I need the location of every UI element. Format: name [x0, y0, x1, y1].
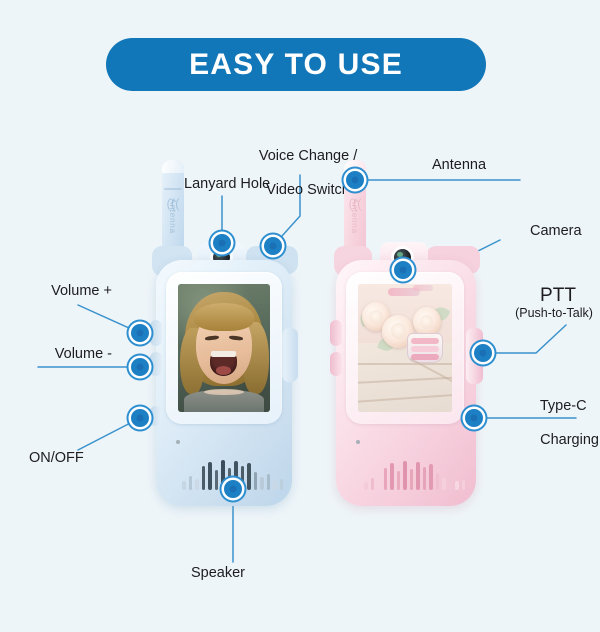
marker-volume-down[interactable] — [131, 358, 149, 376]
label-type-c-charging: Type-C Charging — [524, 381, 599, 467]
blue-walkie-talkie: ((( Antenna — [150, 160, 310, 520]
marker-camera[interactable] — [394, 261, 412, 279]
marker-speaker[interactable] — [224, 480, 242, 498]
pink-walkie-talkie: ((( Antenna — [330, 160, 490, 520]
marker-core — [270, 243, 277, 250]
microphone-hole-pink — [356, 440, 360, 444]
title-banner: EASY TO USE — [106, 38, 486, 91]
lens-glint-pink — [397, 252, 403, 257]
marker-core — [480, 350, 487, 357]
power-button-blue[interactable] — [150, 406, 161, 426]
marker-core — [471, 415, 478, 422]
label-speaker: Speaker — [191, 565, 245, 582]
speaker-grille-pink — [364, 456, 465, 490]
marker-lanyard-hole[interactable] — [213, 234, 231, 252]
label-camera: Camera — [530, 223, 582, 240]
volume-up-button-blue[interactable] — [150, 320, 162, 346]
label-type-c-line2: Charging — [540, 432, 599, 448]
marker-core — [137, 330, 144, 337]
antenna-wordmark-pink: Antenna — [350, 199, 360, 234]
label-volume-up: Volume + — [0, 283, 112, 300]
label-type-c-line1: Type-C — [540, 398, 587, 414]
antenna-ring-blue — [164, 188, 182, 190]
marker-antenna[interactable] — [346, 171, 364, 189]
volume-up-button-pink[interactable] — [330, 320, 342, 346]
volume-down-button-pink[interactable] — [330, 352, 342, 376]
screen-pink — [358, 284, 452, 412]
screen-blue — [178, 284, 270, 412]
label-ptt: PTT — [516, 285, 600, 307]
volume-down-button-blue[interactable] — [150, 352, 162, 376]
marker-voice-change[interactable] — [264, 237, 282, 255]
infographic-canvas: EASY TO USE Lanyard Hole — [0, 0, 600, 632]
marker-core — [352, 177, 359, 184]
marker-type-c[interactable] — [465, 409, 483, 427]
screen-photo-child — [178, 284, 270, 412]
marker-on-off[interactable] — [131, 409, 149, 427]
antenna-wordmark-blue: Antenna — [168, 199, 178, 234]
ptt-button-blue[interactable] — [282, 328, 298, 382]
marker-volume-up[interactable] — [131, 324, 149, 342]
marker-core — [400, 267, 407, 274]
screen-photo-roses — [358, 284, 452, 412]
marker-core — [230, 486, 237, 493]
marker-core — [137, 364, 144, 371]
label-volume-down: Volume - — [0, 346, 112, 363]
marker-ptt[interactable] — [474, 344, 492, 362]
page-title: EASY TO USE — [189, 48, 403, 82]
lens-glint-blue — [216, 252, 222, 257]
microphone-hole-blue — [176, 440, 180, 444]
label-on-off: ON/OFF — [29, 450, 84, 467]
marker-core — [219, 240, 226, 247]
antenna-cap-blue — [162, 160, 184, 173]
marker-core — [137, 415, 144, 422]
label-ptt-sub: (Push-to-Talk) — [508, 306, 600, 321]
